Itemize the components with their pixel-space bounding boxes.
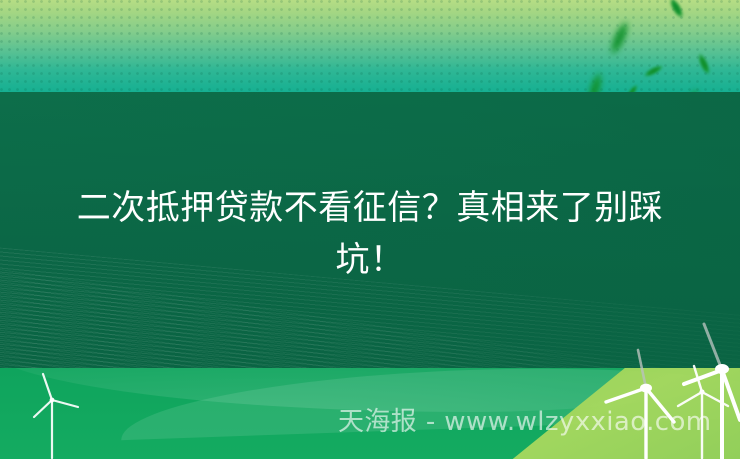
- turbine-left: [30, 372, 90, 459]
- poster-canvas: 二次抵押贷款不看征信？真相来了别踩坑！ 天海报 - www.wlzyxxiao.…: [0, 0, 740, 459]
- watermark-text: 天海报 - www.wlzyxxiao.com: [338, 407, 711, 437]
- top-gradient-band: [0, 0, 740, 92]
- page-title: 二次抵押贷款不看征信？真相来了别踩坑！: [46, 182, 694, 286]
- title-block: 二次抵押贷款不看征信？真相来了别踩坑！: [0, 182, 740, 286]
